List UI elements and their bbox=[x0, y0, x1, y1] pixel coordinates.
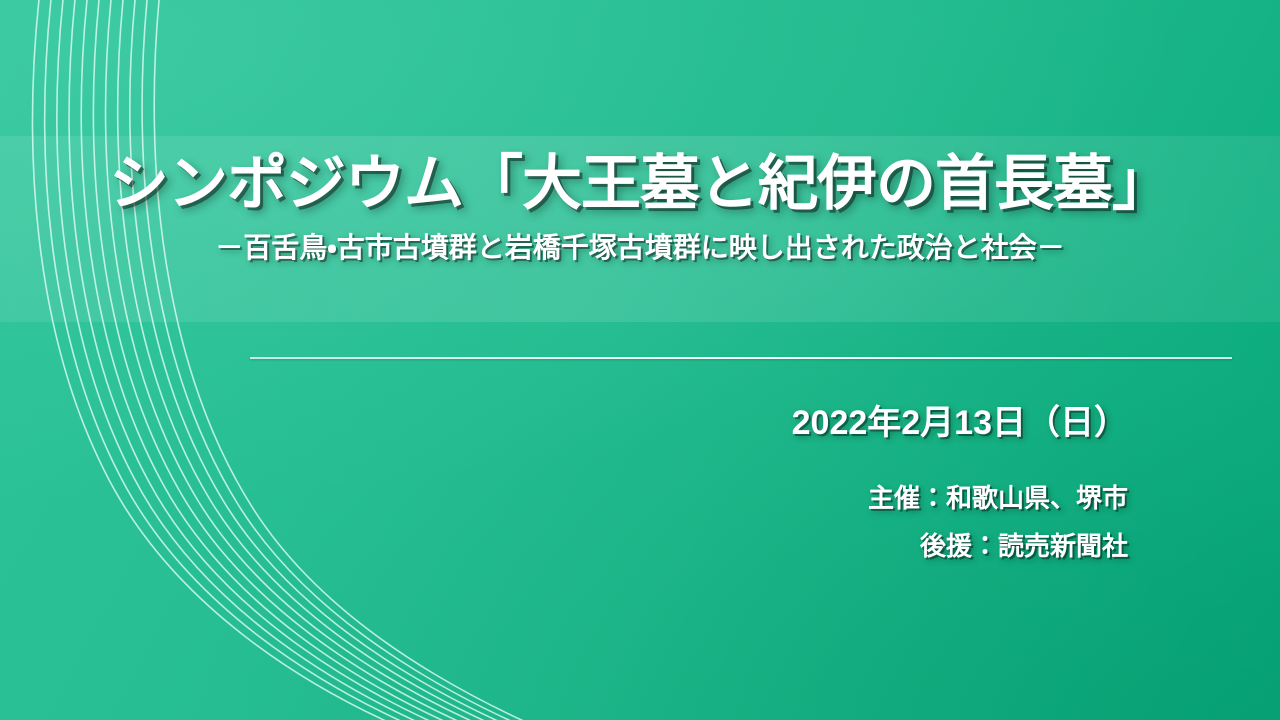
headline-block: シンポジウム「大王墓と紀伊の首長墓」 －百舌鳥・古市古墳群と岩橋千塚古墳群に映し… bbox=[0, 150, 1280, 265]
background-gradient-overlay bbox=[0, 0, 1280, 720]
decorative-curve-lines bbox=[0, 0, 1280, 720]
page-subtitle: －百舌鳥・古市古墳群と岩橋千塚古墳群に映し出された政治と社会－ bbox=[0, 231, 1280, 265]
event-details-block: 2022年2月13日（日） 主催：和歌山県、堺市 後援：読売新聞社 bbox=[792, 402, 1128, 563]
event-support-credit: 後援：読売新聞社 bbox=[792, 529, 1128, 563]
event-host-credit: 主催：和歌山県、堺市 bbox=[792, 481, 1128, 515]
divider-rule bbox=[250, 357, 1232, 359]
title-slide: シンポジウム「大王墓と紀伊の首長墓」 －百舌鳥・古市古墳群と岩橋千塚古墳群に映し… bbox=[0, 0, 1280, 720]
page-title: シンポジウム「大王墓と紀伊の首長墓」 bbox=[0, 150, 1280, 217]
event-date: 2022年2月13日（日） bbox=[792, 402, 1128, 445]
